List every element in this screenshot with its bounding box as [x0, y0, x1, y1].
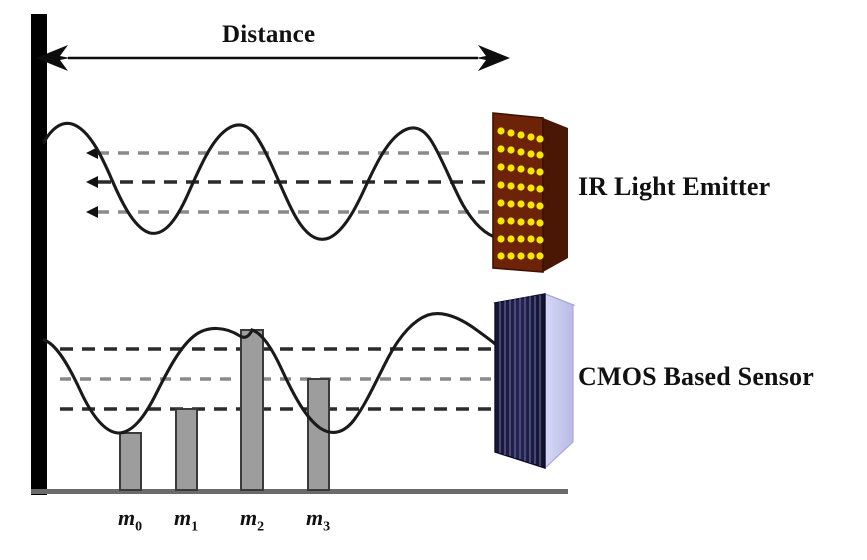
ir-light-emitter-label: IR Light Emitter [578, 172, 770, 202]
reflecting-wall [31, 14, 47, 495]
cmos-based-sensor-label: CMOS Based Sensor [578, 362, 814, 392]
cmos-based-sensor [495, 294, 573, 468]
sample-label-m2: m2 [240, 505, 264, 535]
figure-canvas: Distance IR Light Emitter CMOS Based Sen… [0, 0, 867, 560]
reflected-wave-group [44, 314, 506, 490]
emitter-side-face [543, 118, 568, 272]
sample-bar-m1 [176, 409, 197, 490]
sample-bar-m0 [120, 433, 141, 490]
emitted-wave-group [44, 123, 520, 239]
ir-light-emitter [493, 113, 568, 272]
baseline-axis [31, 489, 568, 494]
sample-bar-m2 [241, 330, 263, 490]
sample-bar-m3 [308, 379, 329, 490]
sample-label-m0: m0 [118, 505, 142, 535]
tof-diagram-svg [0, 0, 867, 560]
distance-label: Distance [222, 21, 315, 49]
sensor-side-face [545, 294, 573, 468]
sample-label-m3: m3 [306, 505, 330, 535]
reflected-ir-wave [44, 314, 506, 433]
sample-label-m1: m1 [174, 505, 198, 535]
